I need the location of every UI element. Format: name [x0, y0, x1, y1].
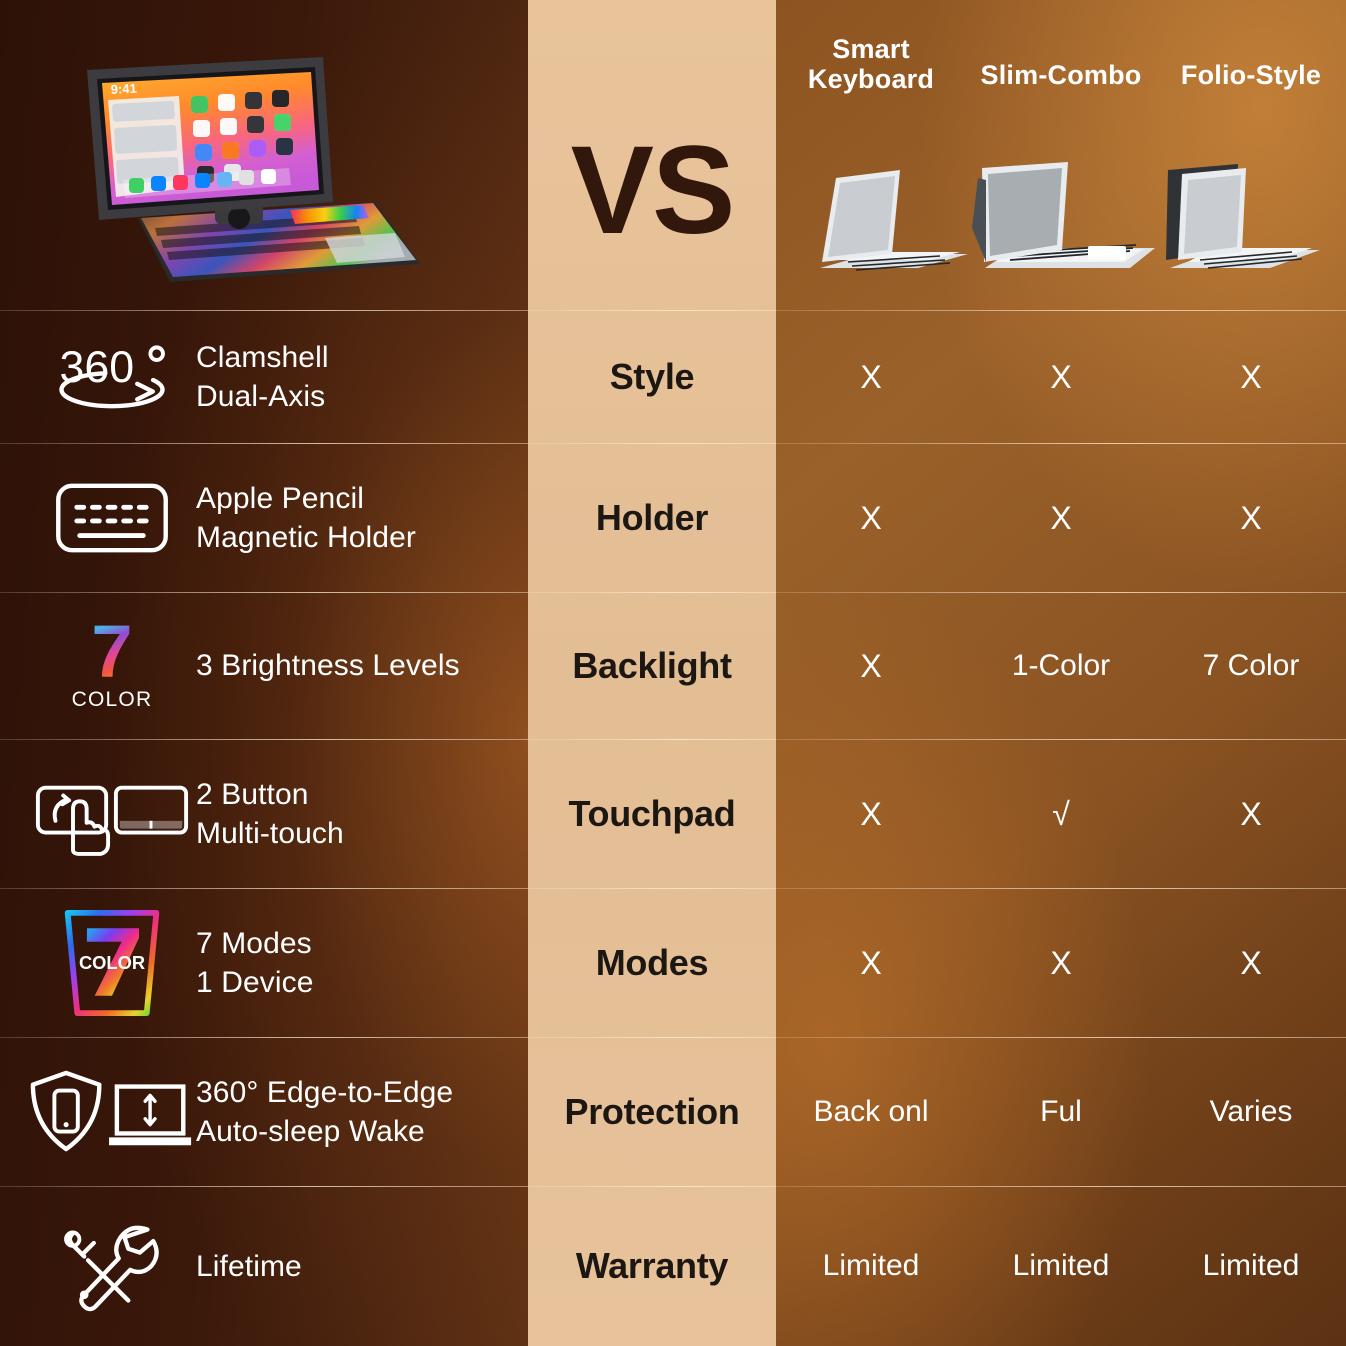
feature-text-holder: Apple Pencil Magnetic Holder — [196, 479, 416, 557]
category-label-modes: Modes — [596, 942, 709, 984]
values-cell-style: X X X — [776, 310, 1346, 443]
wrench-screwdriver-icon — [28, 1220, 196, 1312]
keyboard-outline-icon — [28, 476, 196, 560]
feature-cell-touchpad: 2 Button Multi-touch — [0, 739, 528, 888]
feature-text-protection: 360° Edge-to-Edge Auto-sleep Wake — [196, 1073, 453, 1151]
feature-cell-protection: 360° Edge-to-Edge Auto-sleep Wake — [0, 1037, 528, 1186]
category-cell-protection: Protection — [528, 1037, 776, 1186]
shield-laptop-icon — [28, 1069, 196, 1155]
value-holder-smart-keyboard: X — [776, 502, 966, 534]
header-spacer-left — [0, 0, 528, 310]
modes-badge-label: COLOR — [79, 951, 145, 972]
value-touchpad-slim-combo: √ — [966, 798, 1156, 830]
feature-cell-warranty: Lifetime — [0, 1186, 528, 1346]
value-warranty-folio-style: Limited — [1156, 1251, 1346, 1281]
feature-text-warranty: Lifetime — [196, 1247, 302, 1286]
value-backlight-folio-style: 7 Color — [1156, 651, 1346, 681]
feature-text-backlight-line1: 3 Brightness Levels — [196, 646, 460, 685]
feature-text-backlight: 3 Brightness Levels — [196, 646, 460, 685]
values-cell-backlight: X 1-Color 7 Color — [776, 592, 1346, 739]
category-label-touchpad: Touchpad — [569, 793, 736, 835]
value-touchpad-folio-style: X — [1156, 798, 1346, 830]
value-protection-smart-keyboard: Back onl — [776, 1097, 966, 1127]
value-modes-folio-style: X — [1156, 947, 1346, 979]
seven-color-number: 7 — [91, 619, 132, 686]
values-cell-holder: X X X — [776, 443, 1346, 592]
feature-text-modes-line2: 1 Device — [196, 963, 314, 1002]
category-cell-warranty: Warranty — [528, 1186, 776, 1346]
values-cell-protection: Back onl Ful Varies — [776, 1037, 1346, 1186]
feature-text-touchpad: 2 Button Multi-touch — [196, 775, 344, 853]
header-spacer-right — [776, 0, 1346, 310]
value-touchpad-smart-keyboard: X — [776, 798, 966, 830]
value-warranty-smart-keyboard: Limited — [776, 1251, 966, 1281]
feature-text-protection-line1: 360° Edge-to-Edge — [196, 1073, 453, 1112]
feature-text-touchpad-line2: Multi-touch — [196, 814, 344, 853]
comparison-grid: 360 Clamshell Dual-Axis Style X X X — [0, 0, 1346, 1346]
seven-color-badge-icon: COLOR — [28, 905, 196, 1021]
value-holder-slim-combo: X — [966, 502, 1156, 534]
feature-text-style: Clamshell Dual-Axis — [196, 338, 329, 416]
svg-text:360: 360 — [60, 342, 135, 391]
values-cell-warranty: Limited Limited Limited — [776, 1186, 1346, 1346]
value-style-slim-combo: X — [966, 361, 1156, 393]
value-style-folio-style: X — [1156, 361, 1346, 393]
feature-cell-style: 360 Clamshell Dual-Axis — [0, 310, 528, 443]
seven-color-gradient-icon: 7 COLOR — [28, 619, 196, 712]
comparison-chart: 9:41 — [0, 0, 1346, 1346]
feature-text-style-line1: Clamshell — [196, 338, 329, 377]
feature-cell-holder: Apple Pencil Magnetic Holder — [0, 443, 528, 592]
value-backlight-smart-keyboard: X — [776, 650, 966, 682]
value-style-smart-keyboard: X — [776, 361, 966, 393]
feature-text-holder-line1: Apple Pencil — [196, 479, 416, 518]
feature-cell-backlight: 7 COLOR 3 Brightness Levels — [0, 592, 528, 739]
feature-text-modes: 7 Modes 1 Device — [196, 924, 314, 1002]
value-protection-slim-combo: Ful — [966, 1097, 1156, 1127]
feature-text-modes-line1: 7 Modes — [196, 924, 314, 963]
values-cell-touchpad: X √ X — [776, 739, 1346, 888]
category-cell-holder: Holder — [528, 443, 776, 592]
value-backlight-slim-combo: 1-Color — [966, 651, 1156, 681]
touchpad-hand-icon — [28, 772, 196, 856]
category-cell-modes: Modes — [528, 888, 776, 1037]
feature-text-style-line2: Dual-Axis — [196, 377, 329, 416]
category-cell-touchpad: Touchpad — [528, 739, 776, 888]
category-cell-backlight: Backlight — [528, 592, 776, 739]
feature-cell-modes: COLOR 7 Modes 1 Device — [0, 888, 528, 1037]
seven-color-label: COLOR — [72, 688, 153, 712]
rotate-360-icon: 360 — [28, 335, 196, 419]
category-cell-style: Style — [528, 310, 776, 443]
value-holder-folio-style: X — [1156, 502, 1346, 534]
category-label-backlight: Backlight — [572, 645, 731, 687]
value-modes-smart-keyboard: X — [776, 947, 966, 979]
value-protection-folio-style: Varies — [1156, 1097, 1346, 1127]
feature-text-warranty-line1: Lifetime — [196, 1247, 302, 1286]
feature-text-protection-line2: Auto-sleep Wake — [196, 1112, 453, 1151]
feature-text-touchpad-line1: 2 Button — [196, 775, 344, 814]
value-warranty-slim-combo: Limited — [966, 1251, 1156, 1281]
category-label-protection: Protection — [564, 1091, 739, 1133]
feature-text-holder-line2: Magnetic Holder — [196, 518, 416, 557]
category-label-style: Style — [610, 356, 695, 398]
value-modes-slim-combo: X — [966, 947, 1156, 979]
values-cell-modes: X X X — [776, 888, 1346, 1037]
header-spacer-mid — [528, 0, 776, 310]
category-label-holder: Holder — [596, 497, 708, 539]
category-label-warranty: Warranty — [576, 1245, 728, 1287]
